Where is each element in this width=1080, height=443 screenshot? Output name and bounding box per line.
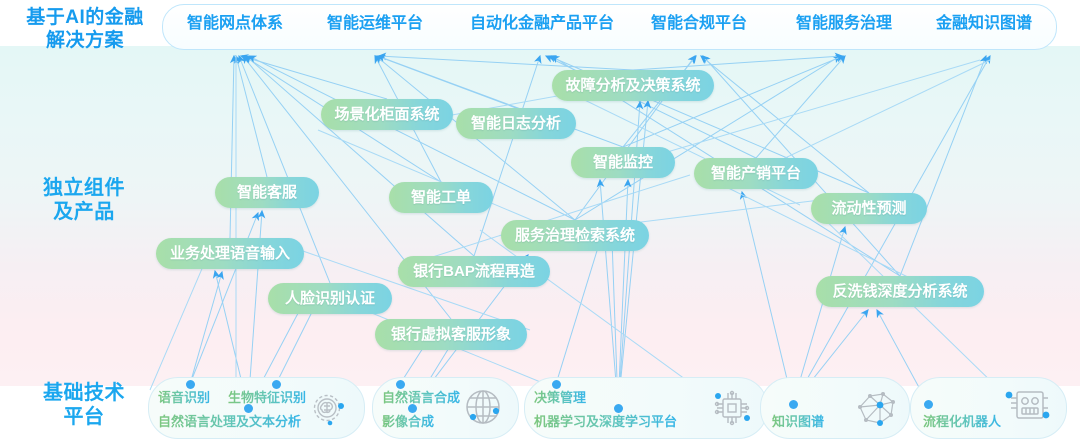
component-pill-c3[interactable]: 智能日志分析 — [456, 108, 576, 139]
platform-label-g4-1[interactable]: 知识图谱 — [772, 411, 824, 430]
component-pill-c9[interactable]: 服务治理检索系统 — [501, 220, 649, 251]
platform-label-g3-1[interactable]: 决策管理 — [534, 387, 586, 406]
component-pill-c12[interactable]: 反洗钱深度分析系统 — [816, 276, 984, 307]
row-caption-platform: 基础技术平台 — [14, 381, 154, 430]
platform-label-g2-2[interactable]: 影像合成 — [382, 411, 434, 430]
connector-node-g1-1 — [186, 380, 195, 389]
component-pill-c14[interactable]: 银行虚拟客服形象 — [375, 319, 527, 350]
connector-node-g4-1 — [789, 400, 798, 409]
robot-icon — [1000, 382, 1052, 435]
solution-item-1[interactable]: 智能网点体系 — [176, 13, 294, 35]
component-pill-c8[interactable]: 流动性预测 — [811, 193, 927, 224]
platform-label-g1-2[interactable]: 生物特征识别 — [228, 387, 306, 406]
component-pill-c2[interactable]: 场景化柜面系统 — [321, 99, 453, 130]
connector-node-g1-3 — [244, 404, 253, 413]
architecture-diagram: 基于AI的金融解决方案 独立组件及产品 基础技术平台 智能网点体系智能运维平台自… — [0, 0, 1080, 443]
component-pill-c5[interactable]: 智能产销平台 — [694, 158, 818, 189]
chip-icon — [708, 384, 756, 437]
component-pill-c7[interactable]: 智能工单 — [389, 182, 493, 213]
knowledge-graph-icon — [850, 383, 902, 436]
solution-item-6[interactable]: 金融知识图谱 — [925, 13, 1043, 35]
component-pill-c4[interactable]: 智能监控 — [571, 147, 675, 178]
platform-label-g1-3[interactable]: 自然语言处理及文本分析 — [158, 411, 301, 430]
solution-item-4[interactable]: 智能合规平台 — [640, 13, 758, 35]
component-pill-c10[interactable]: 业务处理语音输入 — [156, 238, 304, 269]
connector-node-g2-2 — [408, 404, 417, 413]
connector-node-g5-1 — [924, 400, 933, 409]
component-pill-c6[interactable]: 智能客服 — [215, 177, 319, 208]
row-caption-components: 独立组件及产品 — [14, 176, 154, 225]
component-pill-c1[interactable]: 故障分析及决策系统 — [552, 70, 714, 101]
component-pill-c13[interactable]: 人脸识别认证 — [268, 283, 392, 314]
platform-label-g2-1[interactable]: 自然语言合成 — [382, 387, 460, 406]
platform-label-g5-1[interactable]: 流程化机器人 — [923, 411, 1001, 430]
connector-node-g3-1 — [552, 380, 561, 389]
connector-node-g2-1 — [396, 380, 405, 389]
platform-label-g3-2[interactable]: 机器学习及深度学习平台 — [534, 411, 677, 430]
solution-item-5[interactable]: 智能服务治理 — [785, 13, 903, 35]
connector-node-g1-2 — [272, 380, 281, 389]
brain-gear-icon — [303, 384, 351, 437]
platform-label-g1-1[interactable]: 语音识别 — [158, 387, 210, 406]
solution-item-2[interactable]: 智能运维平台 — [316, 13, 434, 35]
connector-node-g3-2 — [614, 404, 623, 413]
component-pill-c11[interactable]: 银行BAP流程再造 — [398, 256, 550, 287]
globe-icon — [460, 384, 506, 435]
solution-item-3[interactable]: 自动化金融产品平台 — [459, 13, 625, 35]
row-caption-solutions: 基于AI的金融解决方案 — [10, 6, 160, 52]
